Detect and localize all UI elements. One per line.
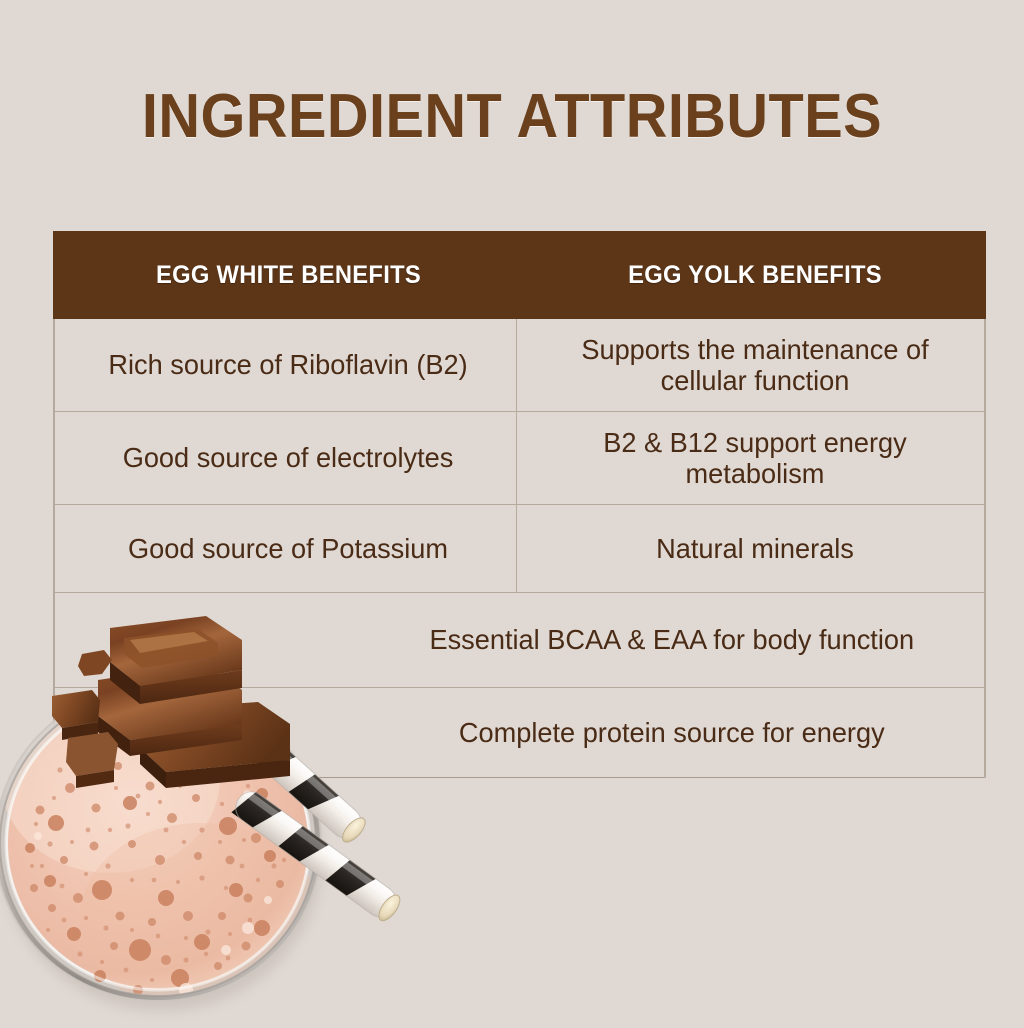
cell-shared-benefit-1-text: Essential BCAA & EAA for body function [387,624,956,655]
table-body: Rich source of Riboflavin (B2) Supports … [53,319,986,778]
cell-egg-yolk-1: Supports the maintenance of cellular fun… [531,319,979,411]
cell-shared-benefit-2: Complete protein source for energy [67,688,972,777]
ingredient-attributes-table: EGG WHITE BENEFITS EGG YOLK BENEFITS Ric… [53,231,986,778]
table-row: Good source of Potassium Natural mineral… [53,505,986,593]
cell-egg-yolk-3: Natural minerals [531,505,979,592]
infographic-canvas: INGREDIENT ATTRIBUTES EGG WHITE BENEFITS… [0,0,1024,1024]
table-row: Rich source of Riboflavin (B2) Supports … [53,319,986,412]
column-header-egg-white: EGG WHITE BENEFITS [65,231,512,319]
table-row-merged: Essential BCAA & EAA for body function [53,593,986,688]
table-row: Good source of electrolytes B2 & B12 sup… [53,412,986,505]
cell-egg-white-2: Good source of electrolytes [60,412,517,504]
cell-egg-yolk-2: B2 & B12 support energy metabolism [531,412,979,504]
table-right-border [984,319,986,778]
table-left-border [53,319,55,778]
page-title: INGREDIENT ATTRIBUTES [36,86,988,148]
column-header-egg-yolk: EGG YOLK BENEFITS [536,231,975,319]
cell-egg-white-1: Rich source of Riboflavin (B2) [60,319,517,411]
cell-shared-benefit-2-text: Complete protein source for energy [387,717,956,748]
cell-shared-benefit-1: Essential BCAA & EAA for body function [67,593,972,687]
table-header-row: EGG WHITE BENEFITS EGG YOLK BENEFITS [53,231,986,319]
cell-egg-white-3: Good source of Potassium [60,505,517,592]
table-row-merged: Complete protein source for energy [53,688,986,778]
